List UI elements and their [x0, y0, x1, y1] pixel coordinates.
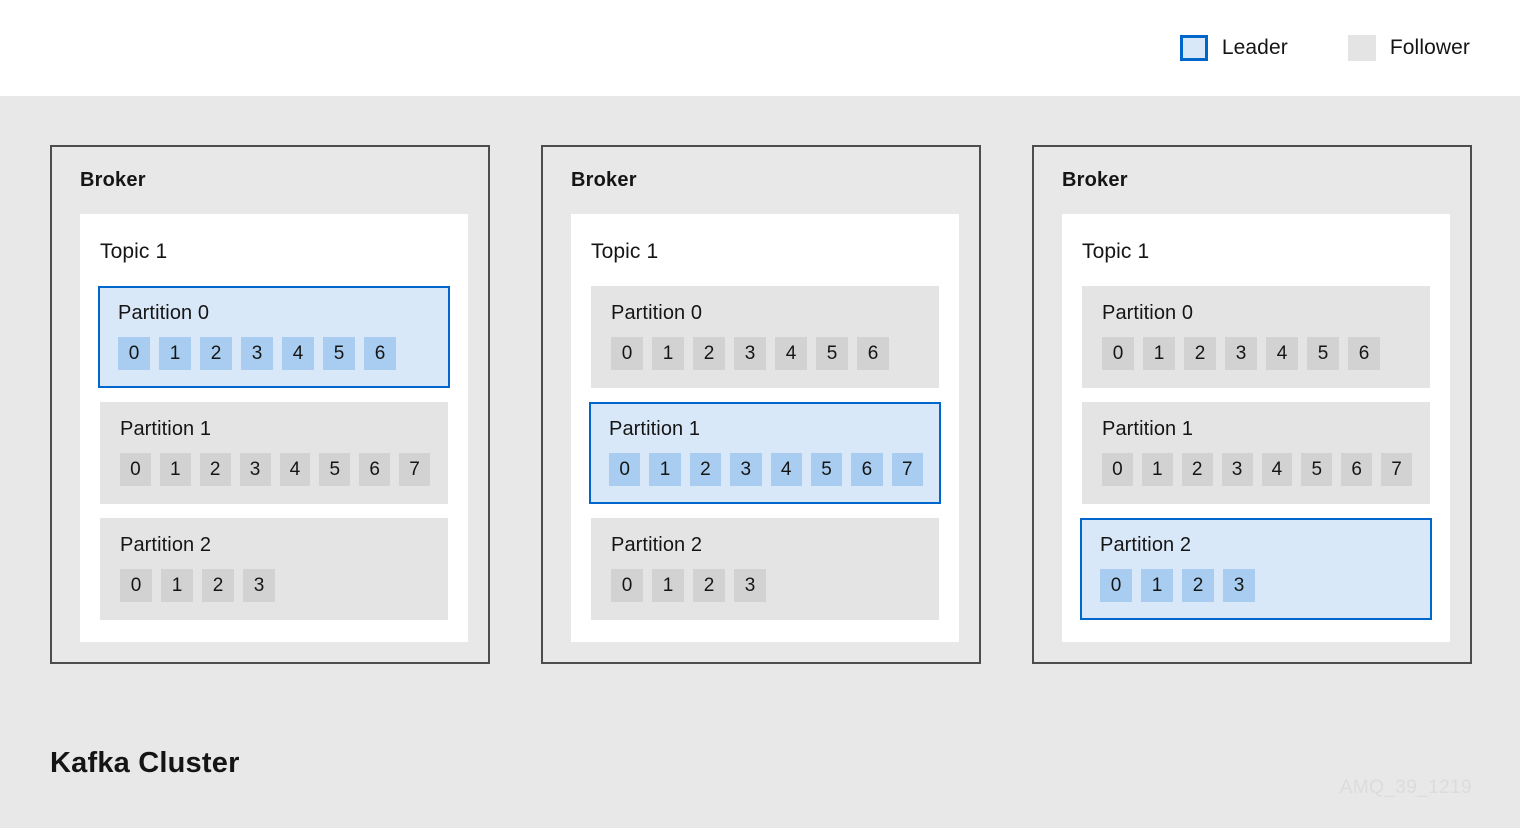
partition-card: Partition 2 0 1 2 3	[591, 518, 939, 620]
segment: 3	[730, 453, 761, 486]
segment: 4	[282, 337, 314, 370]
topic-card: Topic 1 Partition 0 0 1 2 3 4 5 6 Partit…	[1062, 214, 1450, 642]
cluster-label: Kafka Cluster	[50, 747, 240, 780]
segment: 7	[892, 453, 923, 486]
broker-title: Broker	[1062, 169, 1450, 192]
kafka-cluster-canvas: Broker Topic 1 Partition 0 0 1 2 3 4 5 6	[0, 96, 1520, 828]
partition-card: Partition 0 0 1 2 3 4 5 6	[98, 286, 450, 388]
segment-list: 0 1 2 3	[611, 569, 921, 602]
leader-swatch-icon	[1180, 35, 1208, 61]
partition-card: Partition 0 0 1 2 3 4 5 6	[1082, 286, 1430, 388]
segment: 0	[611, 569, 643, 602]
segment: 4	[775, 337, 807, 370]
segment: 5	[816, 337, 848, 370]
segment: 2	[202, 569, 234, 602]
segment: 0	[120, 453, 151, 486]
segment: 1	[649, 453, 680, 486]
segment: 5	[811, 453, 842, 486]
segment: 7	[399, 453, 430, 486]
segment: 2	[200, 453, 231, 486]
broker-list: Broker Topic 1 Partition 0 0 1 2 3 4 5 6	[50, 145, 1472, 664]
segment: 1	[1142, 453, 1173, 486]
partition-title: Partition 0	[118, 302, 432, 325]
topic-title: Topic 1	[1082, 240, 1430, 264]
segment: 3	[243, 569, 275, 602]
partition-card: Partition 0 0 1 2 3 4 5 6	[591, 286, 939, 388]
segment: 2	[693, 337, 725, 370]
segment: 3	[240, 453, 271, 486]
segment-list: 0 1 2 3	[120, 569, 430, 602]
segment-list: 0 1 2 3 4 5 6 7	[120, 453, 430, 486]
segment: 1	[652, 569, 684, 602]
topic-card: Topic 1 Partition 0 0 1 2 3 4 5 6 Partit…	[80, 214, 468, 642]
segment: 6	[1348, 337, 1380, 370]
segment: 4	[280, 453, 311, 486]
segment: 6	[851, 453, 882, 486]
segment: 1	[161, 569, 193, 602]
segment-list: 0 1 2 3 4 5 6	[1102, 337, 1412, 370]
segment: 6	[1341, 453, 1372, 486]
segment: 3	[734, 337, 766, 370]
segment: 5	[319, 453, 350, 486]
segment-list: 0 1 2 3 4 5 6	[118, 337, 432, 370]
broker-title: Broker	[571, 169, 959, 192]
partition-card: Partition 1 0 1 2 3 4 5 6 7	[100, 402, 448, 504]
partition-card: Partition 1 0 1 2 3 4 5 6 7	[1082, 402, 1430, 504]
segment-list: 0 1 2 3 4 5 6 7	[609, 453, 923, 486]
partition-title: Partition 0	[1102, 302, 1412, 325]
segment: 3	[1225, 337, 1257, 370]
segment: 2	[1182, 569, 1214, 602]
segment: 3	[734, 569, 766, 602]
legend-item-leader: Leader	[1180, 35, 1288, 61]
partition-title: Partition 1	[1102, 418, 1412, 441]
segment: 3	[1223, 569, 1255, 602]
segment: 3	[1222, 453, 1253, 486]
segment: 2	[200, 337, 232, 370]
segment: 5	[1301, 453, 1332, 486]
partition-title: Partition 2	[1100, 534, 1414, 557]
segment: 6	[364, 337, 396, 370]
topic-title: Topic 1	[100, 240, 448, 264]
broker-card-2: Broker Topic 1 Partition 0 0 1 2 3 4 5 6	[541, 145, 981, 664]
broker-card-3: Broker Topic 1 Partition 0 0 1 2 3 4 5 6	[1032, 145, 1472, 664]
segment: 6	[857, 337, 889, 370]
follower-swatch-icon	[1348, 35, 1376, 61]
segment: 1	[159, 337, 191, 370]
segment: 0	[1102, 453, 1133, 486]
segment: 2	[693, 569, 725, 602]
segment: 3	[241, 337, 273, 370]
segment: 0	[120, 569, 152, 602]
partition-title: Partition 2	[120, 534, 430, 557]
partition-title: Partition 1	[609, 418, 923, 441]
partition-card: Partition 1 0 1 2 3 4 5 6 7	[589, 402, 941, 504]
partition-title: Partition 2	[611, 534, 921, 557]
segment: 7	[1381, 453, 1412, 486]
legend-label-leader: Leader	[1222, 36, 1288, 60]
watermark-label: AMQ_39_1219	[1340, 777, 1472, 799]
partition-title: Partition 0	[611, 302, 921, 325]
segment: 2	[690, 453, 721, 486]
broker-card-1: Broker Topic 1 Partition 0 0 1 2 3 4 5 6	[50, 145, 490, 664]
segment-list: 0 1 2 3	[1100, 569, 1414, 602]
segment: 0	[611, 337, 643, 370]
segment: 4	[1262, 453, 1293, 486]
segment: 1	[652, 337, 684, 370]
segment: 4	[1266, 337, 1298, 370]
segment: 6	[359, 453, 390, 486]
segment: 0	[609, 453, 640, 486]
segment: 5	[1307, 337, 1339, 370]
legend-item-follower: Follower	[1348, 35, 1470, 61]
segment: 4	[771, 453, 802, 486]
segment: 1	[160, 453, 191, 486]
segment: 1	[1143, 337, 1175, 370]
segment-list: 0 1 2 3 4 5 6 7	[1102, 453, 1412, 486]
segment: 0	[1102, 337, 1134, 370]
segment: 5	[323, 337, 355, 370]
topic-card: Topic 1 Partition 0 0 1 2 3 4 5 6 Partit…	[571, 214, 959, 642]
legend-label-follower: Follower	[1390, 36, 1470, 60]
segment: 2	[1184, 337, 1216, 370]
segment: 2	[1182, 453, 1213, 486]
partition-card: Partition 2 0 1 2 3	[1080, 518, 1432, 620]
partition-card: Partition 2 0 1 2 3	[100, 518, 448, 620]
partition-title: Partition 1	[120, 418, 430, 441]
segment-list: 0 1 2 3 4 5 6	[611, 337, 921, 370]
segment: 0	[1100, 569, 1132, 602]
segment: 0	[118, 337, 150, 370]
topic-title: Topic 1	[591, 240, 939, 264]
broker-title: Broker	[80, 169, 468, 192]
legend: Leader Follower	[0, 0, 1520, 96]
segment: 1	[1141, 569, 1173, 602]
